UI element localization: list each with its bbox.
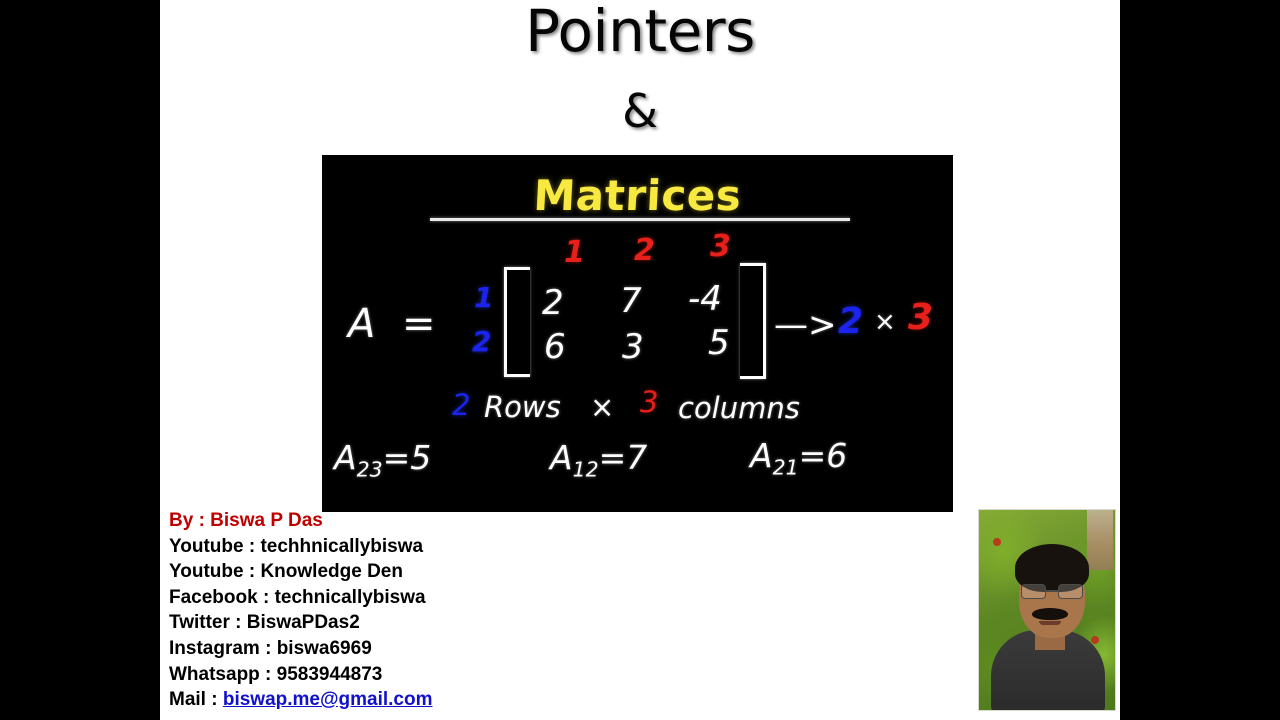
slide-canvas: Pointers & Matrices 1 2 3 A = 1 2 2 7 -4… (0, 0, 1280, 720)
mail-link[interactable]: biswap.me@gmail.com (223, 689, 433, 710)
element-equation-a21-sub: 21 (773, 456, 799, 480)
letterbox-bar-left (0, 0, 160, 720)
element-equation-a23-sub: 23 (357, 458, 383, 482)
element-equation-a12-eq: = (599, 438, 627, 477)
matrix-cell-r1c2: 7 (620, 281, 642, 321)
matrix-cell-r2c3: 5 (708, 323, 730, 363)
matrix-cell-r2c1: 6 (544, 327, 566, 367)
element-equation-a23-value: 5 (410, 438, 431, 477)
slide-title-ampersand: & (160, 88, 1120, 134)
contact-line-mail: Mail : biswap.me@gmail.com (169, 687, 809, 713)
element-equation-a21-eq: = (799, 436, 827, 475)
photo-glasses-icon (1021, 584, 1083, 599)
slide-title: Pointers (160, 2, 1120, 60)
element-equation-a12-name: A (550, 438, 573, 477)
equals-sign: = (402, 301, 436, 347)
element-equation-a12: A12=7 (550, 438, 647, 482)
photo-mouth (1039, 621, 1061, 625)
photo-mustache (1032, 608, 1068, 620)
element-equation-a23-name: A (334, 438, 357, 477)
element-equation-a12-value: 7 (626, 438, 647, 477)
element-equation-a21: A21=6 (750, 436, 847, 480)
contact-line-youtube-2: Youtube : Knowledge Den (169, 559, 809, 585)
blackboard-heading: Matrices (322, 171, 953, 220)
element-equation-a23-eq: = (383, 438, 411, 477)
photo-building-background (1087, 510, 1113, 570)
element-equation-a12-sub: 12 (573, 458, 599, 482)
matrix-name-label: A (348, 301, 375, 347)
photo-glasses-lens-right (1058, 584, 1083, 599)
blackboard-panel: Matrices 1 2 3 A = 1 2 2 7 -4 6 3 5 —> (322, 155, 953, 512)
column-index-2: 2 (634, 233, 655, 268)
contact-line-whatsapp: Whatsapp : 9583944873 (169, 662, 809, 688)
contact-line-facebook: Facebook : technicallybiswa (169, 585, 809, 611)
photo-glasses-bridge (1046, 590, 1058, 592)
mail-label: Mail : (169, 689, 223, 710)
contact-info-block: By : Biswa P Das Youtube : techhnicallyb… (169, 508, 809, 713)
matrix-cell-r2c2: 3 (622, 327, 644, 367)
matrix-bracket-left (504, 267, 530, 377)
dimension-cols: 3 (908, 297, 933, 338)
row-index-1: 1 (474, 281, 493, 314)
blackboard-heading-underline (430, 218, 850, 221)
photo-flower-left (993, 538, 1001, 546)
letterbox-bar-right (1120, 0, 1280, 720)
row-index-2: 2 (472, 325, 491, 358)
presentation-slide: Pointers & Matrices 1 2 3 A = 1 2 2 7 -4… (160, 0, 1120, 720)
cols-count-number: 3 (640, 385, 658, 419)
column-index-1: 1 (564, 235, 585, 270)
rows-count-number: 2 (452, 388, 470, 422)
element-equation-a21-value: 6 (826, 436, 847, 475)
element-equation-a23: A23=5 (334, 438, 431, 482)
matrix-bracket-right (740, 263, 766, 379)
photo-flower-right (1091, 636, 1099, 644)
rows-word-label: Rows (484, 390, 561, 424)
rows-cols-times-sign: × (590, 390, 614, 424)
column-index-3: 3 (710, 229, 731, 264)
presenter-photo (978, 509, 1116, 711)
matrix-cell-r1c3: -4 (688, 279, 722, 319)
author-credit: By : Biswa P Das (169, 508, 809, 534)
contact-line-youtube-1: Youtube : techhnicallybiswa (169, 534, 809, 560)
contact-line-instagram: Instagram : biswa6969 (169, 636, 809, 662)
dimension-rows: 2 (838, 301, 863, 342)
columns-word-label: columns (678, 391, 800, 425)
element-equation-a21-name: A (750, 436, 773, 475)
dimension-arrow-icon: —> (774, 305, 837, 345)
dimension-times-sign: × (874, 307, 896, 337)
contact-line-twitter: Twitter : BiswaPDas2 (169, 610, 809, 636)
photo-glasses-lens-left (1021, 584, 1046, 599)
matrix-cell-r1c1: 2 (542, 283, 564, 323)
